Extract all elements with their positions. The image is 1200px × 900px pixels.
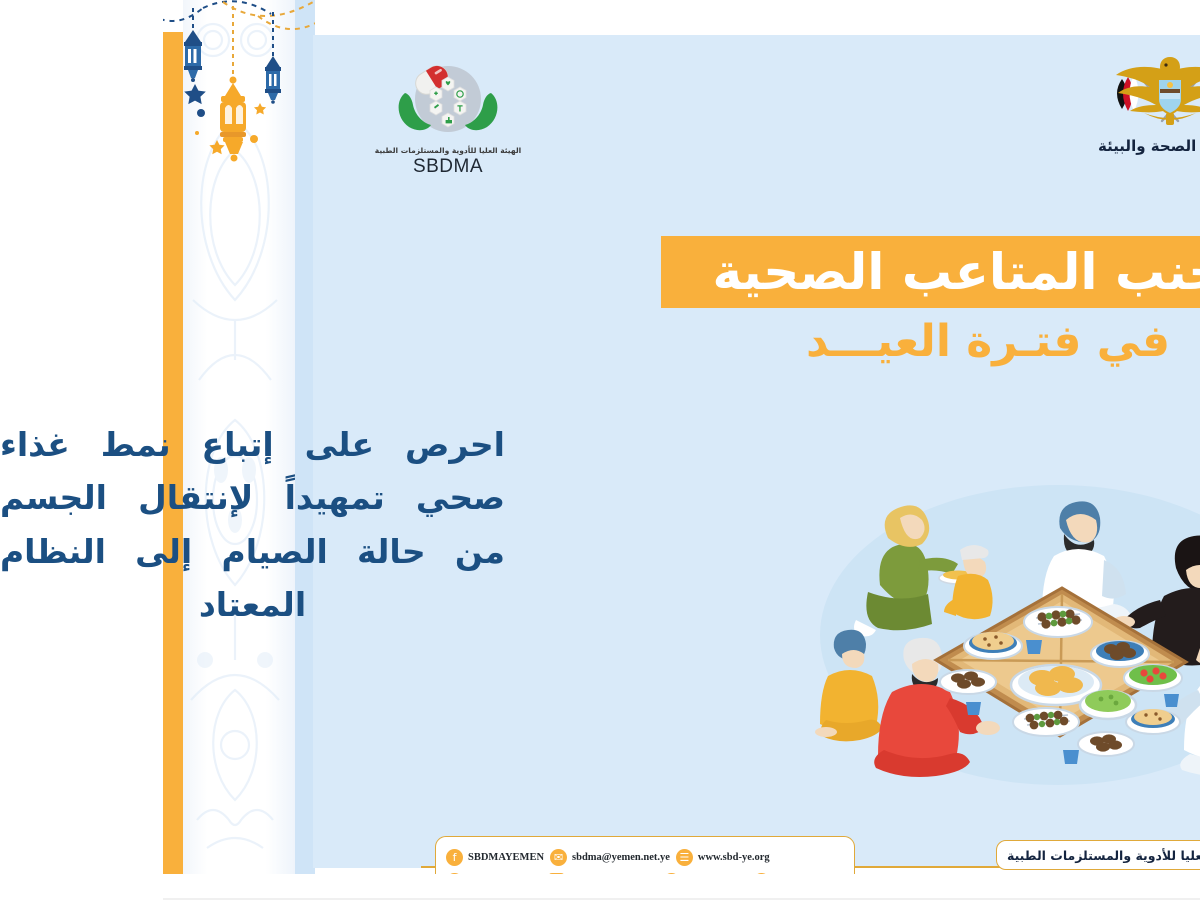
ramadan-lanterns-decor: [0, 0, 152, 260]
main-poster-card: الهيئة العليا للأدوية والمستلزمات الطبية…: [150, 35, 1152, 868]
headline-line1: لتجنب المتاعب الصحية: [549, 247, 1100, 297]
email-icon: ✉: [387, 849, 404, 866]
blue-lantern-icon: [21, 30, 39, 82]
bottom-white-strip: [0, 874, 1200, 900]
contact-email-label: sbdma@yemen.net.ye: [409, 852, 507, 863]
contact-facebook[interactable]: f SBDMAYEMEN: [283, 849, 381, 866]
website-icon: ☰: [513, 849, 530, 866]
poster-root: الهيئة العليا للأدوية والمستلزمات الطبية…: [0, 0, 1200, 900]
contact-website-label: www.sbd-ye.org: [535, 852, 607, 863]
organization-name-label: الهيئة العليا للأدوية والمستلزمات الطبية: [844, 848, 1088, 863]
orange-lantern-icon: [57, 77, 83, 162]
headline-line2: في فتـرة العيـــد: [498, 316, 1152, 367]
sbdma-abbreviation: SBDMA: [190, 156, 380, 178]
contact-email[interactable]: ✉ sbdma@yemen.net.ye: [387, 849, 507, 866]
family-iftar-meal-illustration: [645, 410, 1145, 795]
contact-facebook-label: SBDMAYEMEN: [305, 852, 381, 863]
contact-row-1: f SBDMAYEMEN ✉ sbdma@yemen.net.ye ☰ www.…: [283, 845, 681, 869]
blue-lantern-icon: [102, 56, 118, 104]
pill-capsule-hands-logo-icon: [220, 53, 350, 145]
contact-website[interactable]: ☰ www.sbd-ye.org: [513, 849, 607, 866]
sbdma-logo: الهيئة العليا للأدوية والمستلزمات الطبية…: [190, 53, 380, 178]
headline-banner: لتجنب المتاعب الصحية: [498, 236, 1152, 308]
organization-name-badge: الهيئة العليا للأدوية والمستلزمات الطبية: [833, 840, 1099, 870]
yemen-eagle-emblem-icon: [937, 49, 1077, 133]
body-paragraph: احرص على إتباع نمط غذاء صحي تمهيداً لإنت…: [0, 418, 342, 632]
ministry-arabic-name: وزارة الصحة والبيئة: [902, 137, 1112, 155]
facebook-icon: f: [283, 849, 300, 866]
sbdma-arabic-name: الهيئة العليا للأدوية والمستلزمات الطبية: [190, 146, 380, 155]
ministry-logo: وزارة الصحة والبيئة: [902, 49, 1112, 155]
